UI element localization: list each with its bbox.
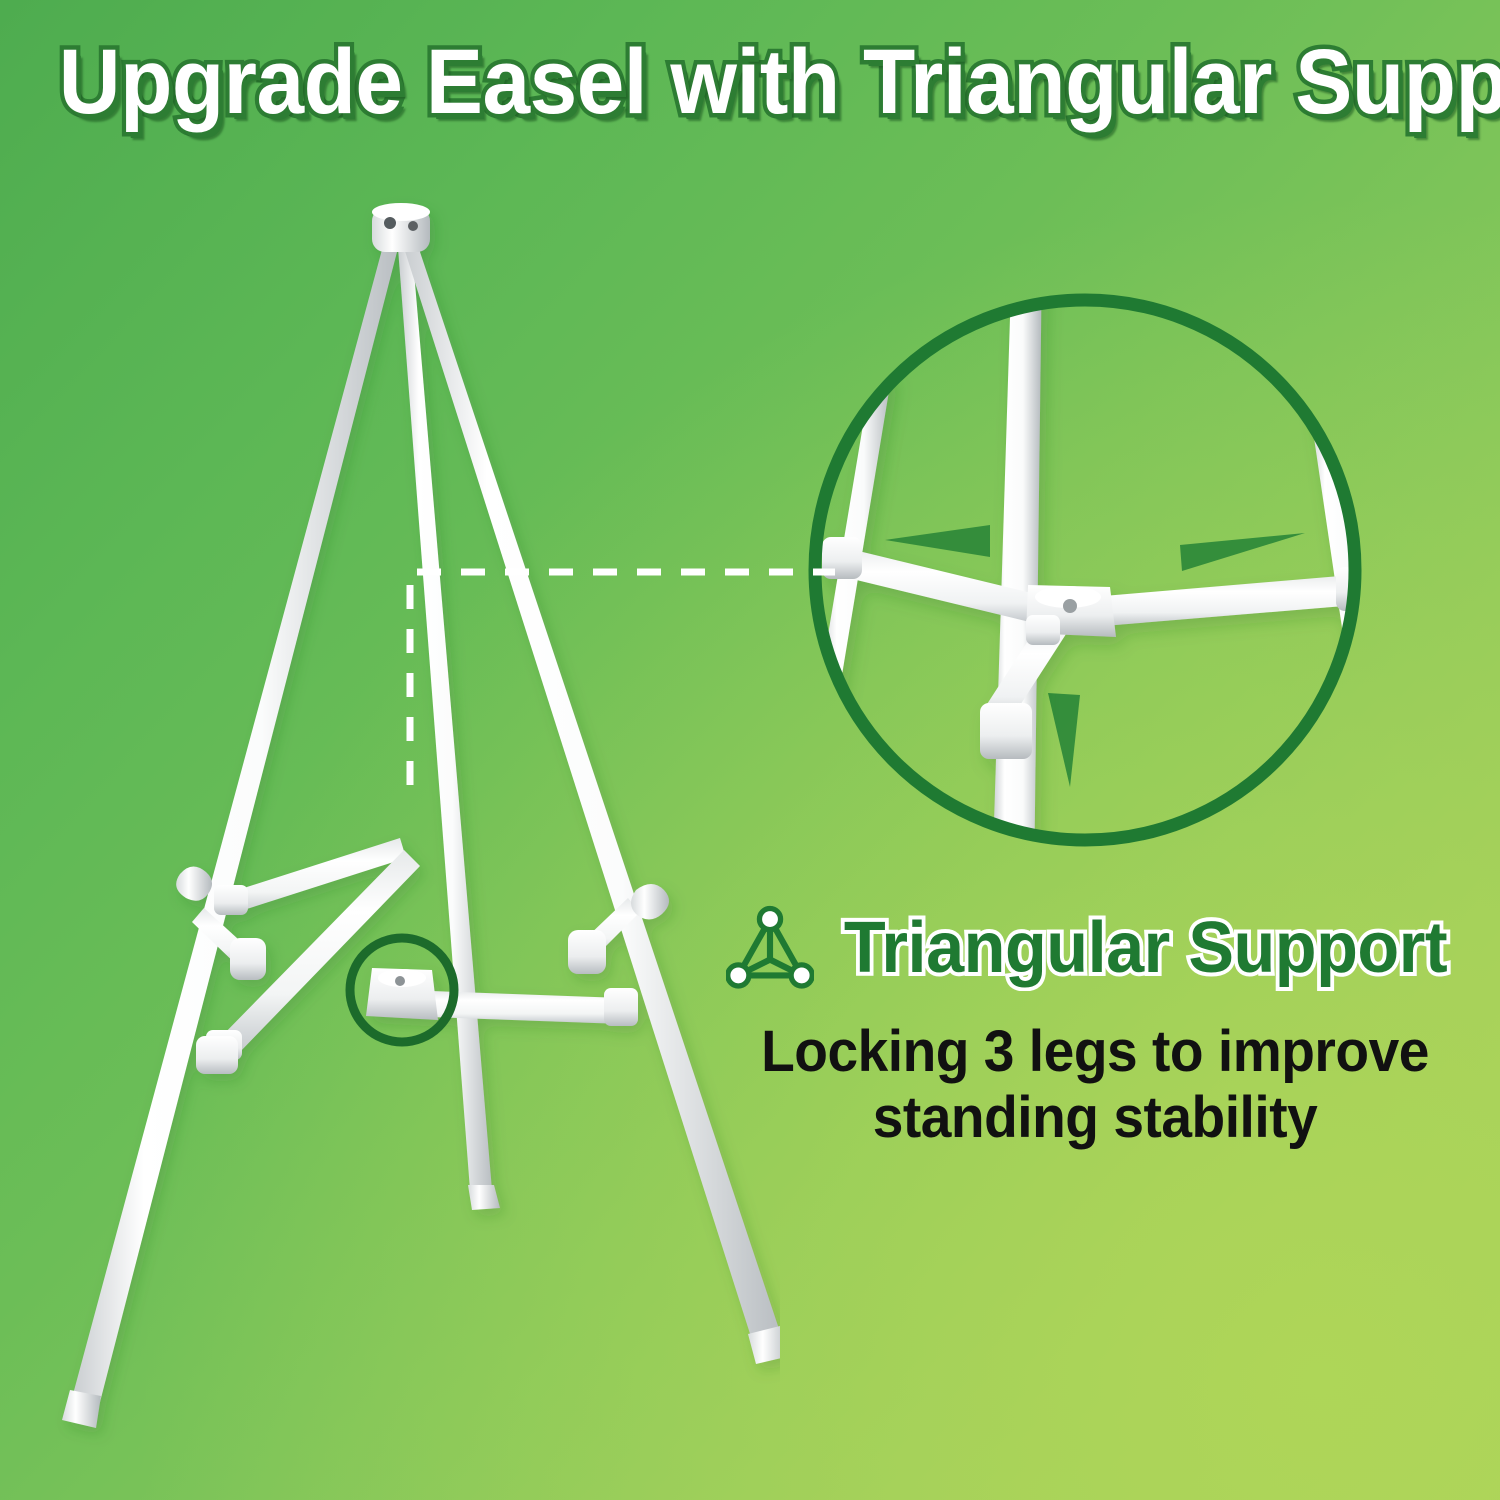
detail-hub-screw — [1063, 599, 1077, 613]
page-title: Upgrade Easel with Triangular Support — [59, 34, 1500, 132]
feature-subtitle-line-2: standing stability — [720, 1085, 1471, 1151]
rubber-foot-cap-rear — [468, 1185, 500, 1210]
center-locking-hub — [366, 968, 438, 1020]
rear-center-leg — [398, 248, 500, 1210]
detail-left-clamp — [822, 537, 862, 579]
hub-pivot-screw — [395, 976, 405, 986]
front-right-leg — [404, 246, 780, 1364]
feature-subtitle: Locking 3 legs to improve standing stabi… — [720, 1019, 1471, 1151]
feature-subtitle-line-1: Locking 3 legs to improve — [720, 1019, 1471, 1085]
feature-heading-row: Triangular Support — [700, 905, 1490, 993]
arrow-left-icon — [885, 525, 990, 557]
product-marketing-image: Upgrade Easel with Triangular Support — [0, 0, 1500, 1500]
detail-right-brace — [1092, 575, 1356, 627]
apex-cap-with-screws — [372, 203, 430, 252]
title-banner: Upgrade Easel with Triangular Support — [0, 34, 1500, 132]
detail-center-leg — [992, 275, 1042, 885]
product-illustration-easel — [0, 150, 780, 1500]
apex-screw-left — [384, 217, 396, 229]
front-left-leg — [62, 246, 398, 1428]
triangular-support-detail — [780, 275, 1390, 885]
easel-frame — [62, 203, 780, 1428]
apex-screw-right — [408, 221, 418, 231]
right-brace-clamp — [604, 988, 638, 1026]
tripod-triangle-icon — [726, 905, 814, 993]
left-hook-collar — [230, 938, 266, 980]
arrow-down-icon — [1048, 693, 1080, 787]
detail-leg-collar — [980, 703, 1032, 759]
left-leg-adjust-collar — [196, 1036, 238, 1074]
feature-title: Triangular Support — [844, 909, 1447, 988]
rubber-foot-cap-left — [62, 1390, 101, 1428]
right-hook-collar — [568, 930, 606, 974]
motion-arrows — [885, 525, 1305, 787]
left-brace-clamp — [214, 885, 248, 915]
arrow-right-icon — [1180, 533, 1305, 571]
feature-callout-block: Triangular Support Locking 3 legs to imp… — [700, 905, 1490, 1151]
